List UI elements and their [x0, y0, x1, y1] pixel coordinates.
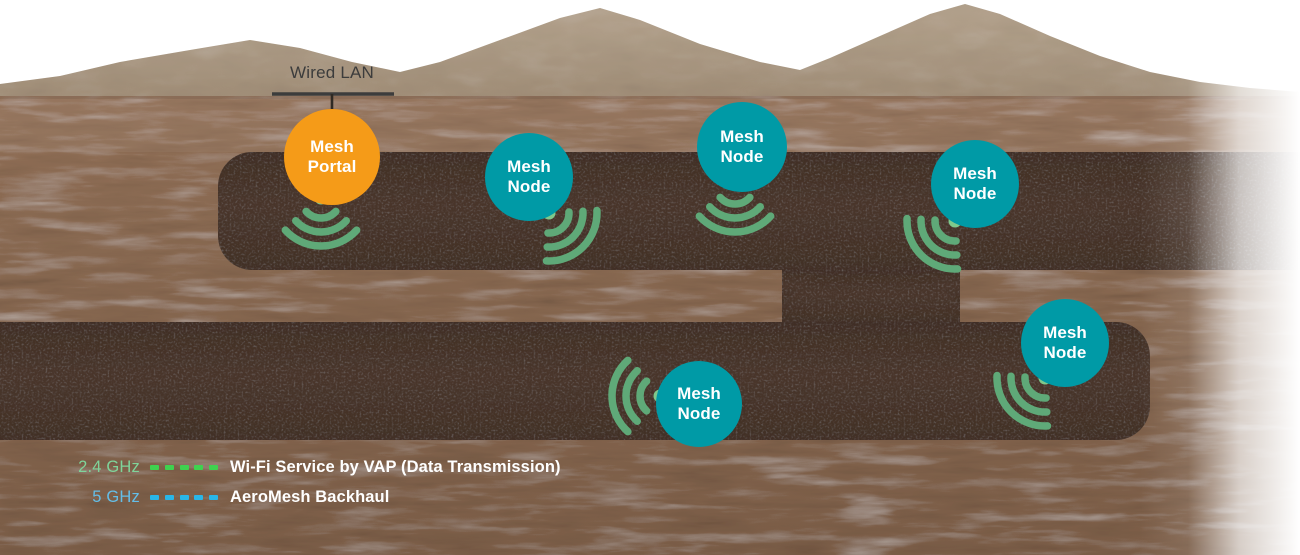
legend-dash [180, 495, 189, 500]
mesh-node-3[interactable]: MeshNode [931, 140, 1019, 228]
legend-dash [209, 465, 218, 470]
mesh-node-1-label-line1: Mesh [507, 157, 551, 177]
right-edge-fade [1140, 0, 1300, 555]
wired-lan-label: Wired LAN [212, 63, 452, 83]
mesh-node-4-label-line2: Node [1044, 343, 1087, 363]
legend-dash [165, 465, 174, 470]
topsoil-band [0, 96, 1300, 152]
mesh-node-1[interactable]: MeshNode [485, 133, 573, 221]
legend-row-1: 2.4 GHzWi-Fi Service by VAP (Data Transm… [58, 452, 561, 482]
mesh-portal[interactable]: MeshPortal [284, 109, 380, 205]
legend-dash [194, 495, 203, 500]
legend-dash [194, 465, 203, 470]
legend-row-2: 5 GHzAeroMesh Backhaul [58, 482, 561, 512]
mesh-node-4[interactable]: MeshNode [1021, 299, 1109, 387]
mesh-node-2[interactable]: MeshNode [697, 102, 787, 192]
legend-dash [150, 495, 159, 500]
legend-description-2: AeroMesh Backhaul [230, 488, 389, 507]
legend-dash-swatch-2 [150, 495, 218, 500]
mesh-node-5-label-line2: Node [678, 404, 721, 424]
diagram-canvas: MeshPortalMeshNodeMeshNodeMeshNodeMeshNo… [0, 0, 1300, 555]
mesh-node-4-label-line1: Mesh [1043, 323, 1087, 343]
mesh-node-3-label-line1: Mesh [953, 164, 997, 184]
mesh-portal-label-line1: Mesh [310, 137, 354, 157]
mesh-node-2-label-line1: Mesh [720, 127, 764, 147]
legend-dash [150, 465, 159, 470]
wired-lan-callout[interactable]: Wired LAN [212, 63, 452, 83]
mesh-portal-label-line2: Portal [308, 157, 357, 177]
legend-frequency-2: 5 GHz [58, 488, 140, 507]
legend-dash-swatch-1 [150, 465, 218, 470]
legend-dash [180, 465, 189, 470]
legend-frequency-1: 2.4 GHz [58, 458, 140, 477]
mesh-node-1-label-line2: Node [508, 177, 551, 197]
legend-description-1: Wi-Fi Service by VAP (Data Transmission) [230, 458, 561, 477]
mesh-node-3-label-line2: Node [954, 184, 997, 204]
mesh-node-2-label-line2: Node [721, 147, 764, 167]
legend-dash [209, 495, 218, 500]
legend-dash [165, 495, 174, 500]
mesh-node-5-label-line1: Mesh [677, 384, 721, 404]
mesh-node-5[interactable]: MeshNode [656, 361, 742, 447]
legend: 2.4 GHzWi-Fi Service by VAP (Data Transm… [58, 452, 561, 512]
tunnel-lower [0, 322, 1150, 440]
